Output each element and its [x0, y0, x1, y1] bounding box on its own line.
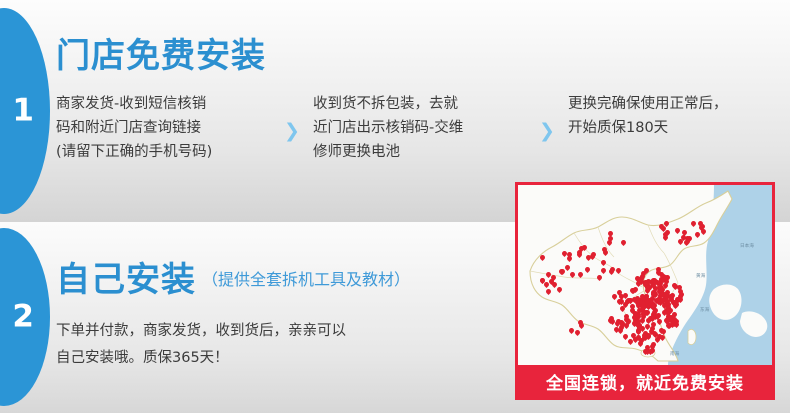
- store-marker: [569, 328, 574, 335]
- store-marker: [652, 279, 657, 286]
- china-map: 日本海 黄海 东海 南海: [518, 185, 772, 365]
- store-marker: [612, 294, 617, 301]
- steps-row: 商家发货-收到短信核销 码和附近门店查询链接 (请留下正确的手机号码) ❯ 收到…: [56, 92, 776, 170]
- store-marker: [570, 272, 575, 279]
- map-caption-bar: 全国连锁，就近免费安装: [518, 365, 772, 397]
- store-marker: [646, 279, 651, 286]
- store-marker: [652, 310, 657, 317]
- step-text-3: 更换完确保使用正常后， 开始质保180天: [568, 92, 788, 140]
- store-marker: [586, 255, 591, 262]
- store-marker: [640, 318, 645, 325]
- store-marker: [664, 293, 669, 300]
- store-coverage-map-card: 日本海 黄海 东海 南海 全国连锁，就近免费安装: [515, 182, 775, 400]
- svg-text:东海: 东海: [700, 306, 710, 313]
- store-marker: [663, 275, 668, 282]
- store-marker: [578, 272, 583, 279]
- store-marker: [695, 232, 700, 239]
- store-marker: [663, 235, 668, 242]
- step-number-badge-2: 2: [0, 228, 50, 406]
- store-marker: [650, 326, 655, 333]
- store-marker: [636, 335, 641, 342]
- step-number-2: 2: [12, 302, 34, 333]
- store-marker: [601, 260, 606, 267]
- section-body-text-2: 下单并付款，商家发货，收到货后，亲亲可以 自己安装哦。质保365天！: [56, 318, 486, 372]
- store-marker: [668, 308, 673, 315]
- page-title-1: 门店免费安装: [56, 28, 266, 77]
- store-marker: [678, 239, 683, 246]
- store-marker: [685, 239, 690, 246]
- store-marker: [579, 323, 584, 330]
- store-marker: [691, 221, 696, 228]
- store-marker: [640, 274, 645, 281]
- store-marker: [540, 278, 545, 285]
- step-text-2: 收到货不拆包装，去就 近门店出示核销码-交维 修师更换电池: [313, 92, 543, 164]
- heading-text-1: 门店免费安装: [56, 36, 266, 76]
- svg-text:南海: 南海: [670, 350, 680, 357]
- store-marker: [582, 245, 587, 252]
- store-marker: [651, 303, 656, 310]
- chevron-right-icon: ❯: [284, 122, 300, 141]
- store-marker: [603, 250, 608, 257]
- store-marker: [559, 269, 564, 276]
- store-marker: [616, 268, 621, 275]
- store-marker: [625, 299, 630, 306]
- store-marker: [673, 284, 678, 291]
- store-marker: [619, 299, 624, 306]
- store-marker: [682, 230, 687, 237]
- store-marker: [678, 297, 683, 304]
- svg-text:日本海: 日本海: [740, 242, 754, 249]
- store-marker: [597, 275, 602, 282]
- store-marker: [635, 300, 640, 307]
- step-text-1: 商家发货-收到短信核销 码和附近门店查询链接 (请留下正确的手机号码): [56, 92, 286, 164]
- store-marker: [552, 282, 557, 289]
- store-marker: [619, 320, 624, 327]
- store-marker: [645, 349, 650, 356]
- store-marker: [644, 310, 649, 317]
- store-marker: [657, 289, 662, 296]
- store-marker: [630, 288, 635, 295]
- store-marker: [546, 289, 551, 296]
- store-marker: [666, 314, 671, 321]
- store-marker: [562, 251, 567, 258]
- store-marker: [608, 236, 613, 243]
- store-marker: [540, 255, 545, 262]
- store-marker: [609, 269, 614, 276]
- promo-banner: 1 门店免费安装 商家发货-收到短信核销 码和附近门店查询链接 (请留下正确的手…: [0, 0, 790, 413]
- step-number-1: 1: [12, 96, 34, 127]
- store-marker: [591, 252, 596, 259]
- store-marker: [625, 318, 630, 325]
- store-marker: [585, 267, 590, 274]
- heading-subtitle-2: （提供全套拆机工具及教材）: [202, 270, 410, 289]
- store-marker: [567, 256, 572, 263]
- svg-text:黄海: 黄海: [696, 272, 706, 279]
- store-marker: [557, 287, 562, 294]
- map-caption-text: 全国连锁，就近免费安装: [546, 369, 744, 394]
- store-marker: [551, 275, 556, 282]
- heading-text-2: 自己安装: [56, 260, 196, 300]
- store-marker: [641, 301, 646, 308]
- page-title-2: 自己安装（提供全套拆机工具及教材）: [56, 252, 410, 301]
- store-marker: [656, 270, 661, 277]
- store-marker: [701, 229, 706, 236]
- store-marker: [675, 228, 680, 235]
- store-marker: [672, 321, 677, 328]
- store-marker: [662, 303, 667, 310]
- store-marker: [608, 318, 613, 325]
- store-marker: [621, 240, 626, 247]
- store-marker: [646, 333, 651, 340]
- store-marker: [575, 330, 580, 337]
- store-marker: [630, 304, 635, 311]
- store-marker: [637, 326, 642, 333]
- step-number-badge-1: 1: [0, 8, 50, 214]
- chevron-right-icon: ❯: [539, 122, 555, 141]
- store-marker: [661, 329, 666, 336]
